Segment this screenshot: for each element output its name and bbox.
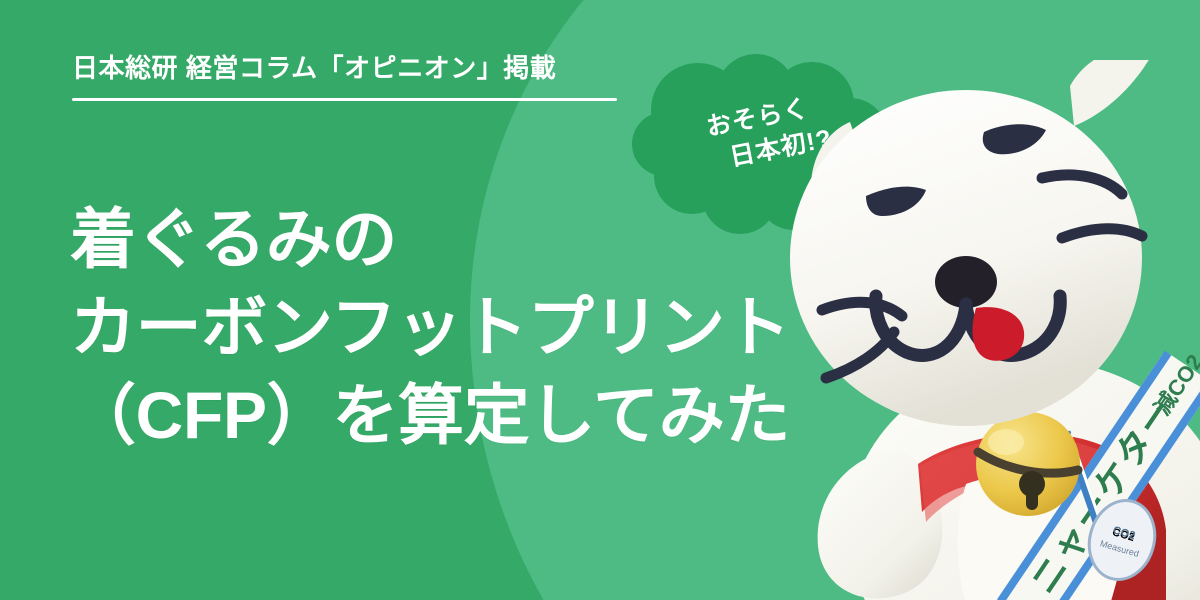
title-line-2: カーボンフットプリント [70, 284, 790, 372]
mascot-right-ear [1070, 51, 1150, 126]
promo-banner: 日本総研 経営コラム「オピニオン」掲載 着ぐるみの カーボンフットプリント （C… [0, 0, 1200, 600]
page-title: 着ぐるみの カーボンフットプリント （CFP）を算定してみた [70, 196, 790, 459]
title-line-3: （CFP）を算定してみた [70, 372, 790, 460]
eyebrow-text: 日本総研 経営コラム「オピニオン」掲載 [72, 52, 632, 86]
mascot-image: ニャーケター 減CO2 CO2 CO2 Measured [770, 60, 1200, 600]
mascot-head [790, 51, 1150, 426]
mascot-bell [976, 412, 1080, 516]
eyebrow-block: 日本総研 経営コラム「オピニオン」掲載 [72, 52, 632, 101]
eyebrow-divider [72, 98, 617, 101]
